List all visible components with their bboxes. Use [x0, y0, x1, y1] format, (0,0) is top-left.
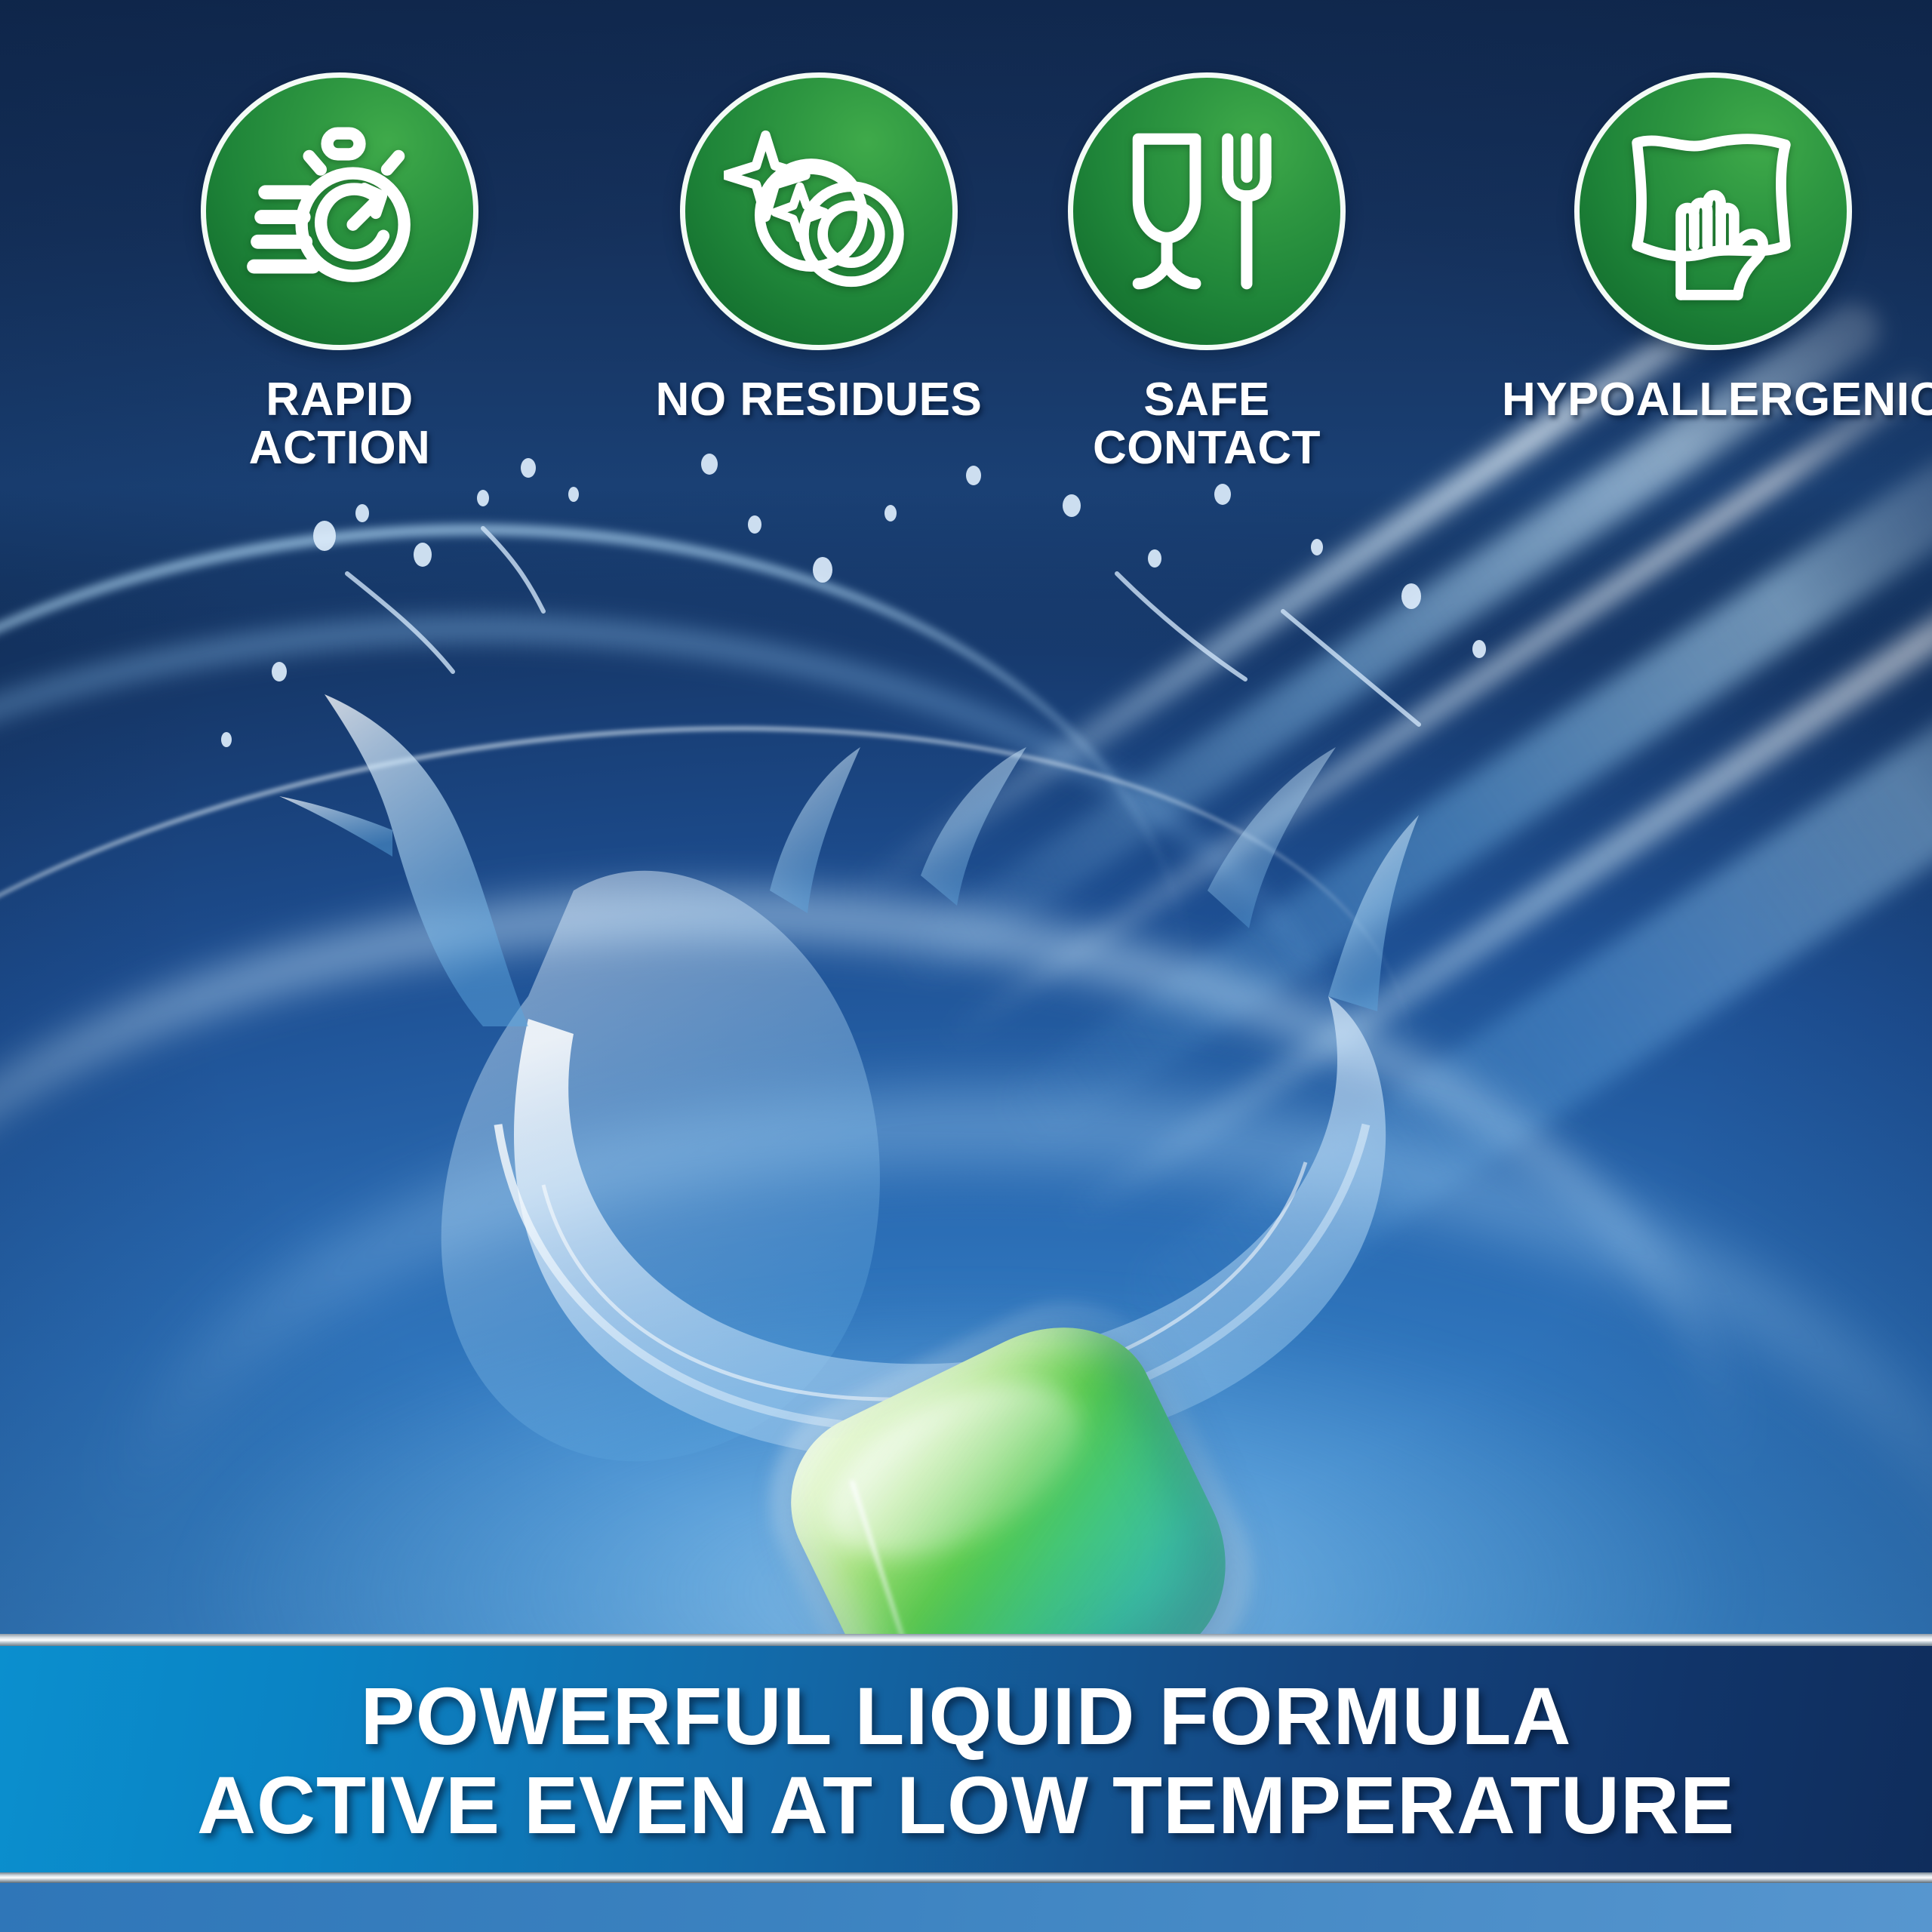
feature-hypoallergenic[interactable]: HYPOALLERGENIC: [1502, 72, 1924, 424]
feature-label-rapid-action: RAPID ACTION: [215, 376, 464, 472]
feature-safe-contact[interactable]: SAFE CONTACT: [1068, 72, 1346, 472]
banner-footer-strip: [0, 1883, 1932, 1932]
feature-rapid-action[interactable]: RAPID ACTION: [201, 72, 478, 472]
feature-no-residues[interactable]: NO RESIDUES: [641, 72, 996, 424]
feature-label-hypoallergenic: HYPOALLERGENIC: [1502, 376, 1924, 424]
banner-top-divider: [0, 1634, 1932, 1646]
banner-bottom-divider: [0, 1872, 1932, 1883]
banner-headline-line2: ACTIVE EVEN AT LOW TEMPERATURE: [197, 1763, 1735, 1847]
bottom-banner: POWERFUL LIQUID FORMULA ACTIVE EVEN AT L…: [0, 1634, 1932, 1932]
badge-circle-hypoallergenic: [1574, 72, 1852, 350]
stopwatch-speed-icon: [245, 116, 435, 306]
feature-label-no-residues: NO RESIDUES: [641, 376, 996, 424]
badge-circle-rapid-action: [201, 72, 478, 350]
badge-circle-safe-contact: [1068, 72, 1346, 350]
water-splash-hero: [0, 423, 1932, 1706]
feature-label-safe-contact: SAFE CONTACT: [1082, 376, 1331, 472]
feature-badges-row: RAPID ACTION NO RESIDUES: [0, 0, 1932, 468]
banner-headline-line1: POWERFUL LIQUID FORMULA: [361, 1674, 1572, 1758]
product-promo-canvas: RAPID ACTION NO RESIDUES: [0, 0, 1932, 1932]
glass-and-fork-icon: [1112, 116, 1302, 306]
hand-on-cloth-icon: [1618, 116, 1808, 306]
badge-circle-no-residues: [680, 72, 958, 350]
banner-text-block: POWERFUL LIQUID FORMULA ACTIVE EVEN AT L…: [0, 1647, 1932, 1874]
sparkling-plates-icon: [724, 116, 914, 306]
